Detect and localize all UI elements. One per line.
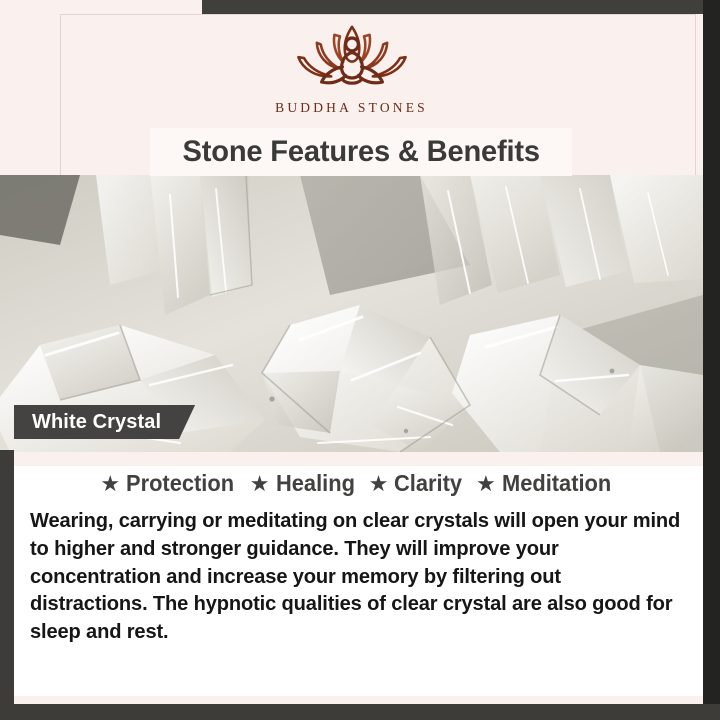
star-icon: ★ <box>250 473 270 495</box>
star-icon: ★ <box>100 473 120 495</box>
frame-band-left <box>0 450 14 712</box>
frame-band-top <box>202 0 720 14</box>
benefits-list: ★ Protection ★ Healing ★ Clarity ★ Medit… <box>14 470 703 497</box>
page-title: Stone Features & Benefits <box>182 135 539 169</box>
benefit-label: Protection <box>126 470 234 497</box>
lotus-meditation-figure-icon <box>272 22 432 94</box>
benefit-label: Healing <box>276 470 355 497</box>
frame-band-bottom <box>0 704 720 720</box>
star-icon: ★ <box>369 473 389 495</box>
benefit-label: Clarity <box>394 470 462 497</box>
star-icon: ★ <box>476 473 496 495</box>
benefit-clarity: ★ Clarity <box>369 470 466 497</box>
title-banner: Stone Features & Benefits <box>150 128 572 176</box>
benefit-healing: ★ Healing <box>250 470 359 497</box>
stone-name-banner: White Crystal <box>14 405 195 439</box>
benefit-meditation: ★ Meditation <box>476 470 617 497</box>
stone-name: White Crystal <box>32 411 161 434</box>
description-text: Wearing, carrying or meditating on clear… <box>30 508 681 647</box>
content-bottom-tint <box>14 696 703 704</box>
frame-band-right <box>703 0 720 720</box>
content-top-tint <box>14 452 703 466</box>
content-panel: ★ Protection ★ Healing ★ Clarity ★ Medit… <box>14 452 703 704</box>
benefit-label: Meditation <box>502 470 611 497</box>
brand-logo: BUDDHA STONES <box>0 22 703 116</box>
brand-name: BUDDHA STONES <box>275 100 428 116</box>
benefit-protection: ★ Protection <box>100 470 239 497</box>
